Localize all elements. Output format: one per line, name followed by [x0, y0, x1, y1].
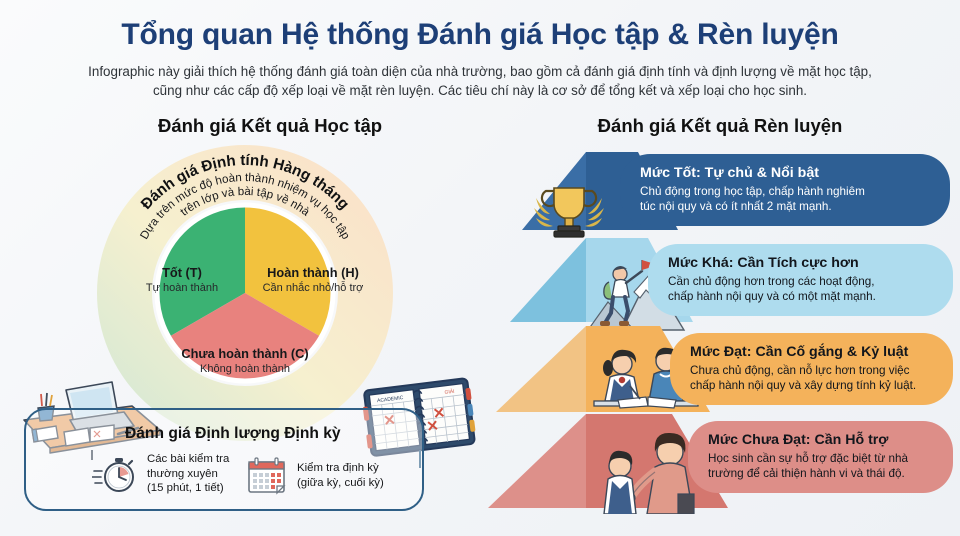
- pyramid-tier-4-body-2: trường để cải thiện hành vi và thái độ.: [708, 466, 937, 481]
- svg-text:GIẢI: GIẢI: [444, 388, 455, 396]
- pyramid-tier-4-heading: Mức Chưa Đạt: Cần Hỗ trợ: [708, 431, 937, 449]
- trophy-icon: [530, 180, 608, 242]
- quantitative-card-title: Đánh giá Định lượng Định kỳ: [125, 425, 355, 443]
- pyramid-tier-1-body-1: Chủ động trong học tập, chấp hành nghiêm: [640, 184, 934, 199]
- pyramid-pill-dat[interactable]: Mức Đạt: Cần Cố gắng & Kỷ luật Chưa chủ …: [670, 333, 953, 405]
- pyramid-tier-3-body-1: Chưa chủ động, cần nỗ lực hơn trong việc: [690, 363, 937, 378]
- infographic-canvas: Tổng quan Hệ thống Đánh giá Học tập & Rè…: [0, 0, 960, 536]
- pyramid-tier-4-body-1: Học sinh cần sự hỗ trợ đặc biệt từ nhà: [708, 451, 937, 466]
- pyramid-tier-1-body-2: túc nội quy và có ít nhất 2 mặt mạnh.: [640, 199, 934, 214]
- quantitative-item-periodic-tests: Kiểm tra định kỳ (giữa kỳ, cuối kỳ): [246, 455, 384, 497]
- quantitative-item-1-text: Các bài kiểm tra thường xuyên (15 phút, …: [147, 452, 229, 496]
- pyramid-pill-chuadat[interactable]: Mức Chưa Đạt: Cần Hỗ trợ Học sinh cần sự…: [688, 421, 953, 493]
- pyramid-pill-tot[interactable]: Mức Tốt: Tự chủ & Nổi bật Chủ động trong…: [620, 154, 950, 226]
- pyramid-tier-2-body-2: chấp hành nội quy và có một mặt mạnh.: [668, 289, 937, 304]
- pyramid-tier-1-heading: Mức Tốt: Tự chủ & Nổi bật: [640, 164, 934, 182]
- pyramid-pill-kha[interactable]: Mức Khá: Cần Tích cực hơn Cần chủ động h…: [648, 244, 953, 316]
- section-heading-conduct: Đánh giá Kết quả Rèn luyện: [500, 115, 940, 137]
- pyramid-tier-2-body-1: Cần chủ động hơn trong các hoạt động,: [668, 274, 937, 289]
- pyramid-tier-3-heading: Mức Đạt: Cần Cố gắng & Kỷ luật: [690, 343, 937, 361]
- pyramid-tier-3-body-2: chấp hành nội quy và xây dựng tính kỷ lu…: [690, 378, 937, 393]
- quantitative-item-regular-tests: Các bài kiểm tra thường xuyên (15 phút, …: [92, 451, 229, 497]
- stopwatch-icon: [92, 451, 138, 497]
- calendar-icon: [246, 455, 288, 497]
- quantitative-item-2-text: Kiểm tra định kỳ (giữa kỳ, cuối kỳ): [297, 461, 384, 490]
- page-title: Tổng quan Hệ thống Đánh giá Học tập & Rè…: [0, 18, 960, 52]
- pyramid-tier-2-heading: Mức Khá: Cần Tích cực hơn: [668, 254, 937, 272]
- conduct-pyramid: Mức Tốt: Tự chủ & Nổi bật Chủ động trong…: [488, 140, 960, 520]
- page-subtitle: Infographic này giải thích hệ thống đánh…: [78, 62, 882, 100]
- section-heading-learning: Đánh giá Kết quả Học tập: [60, 115, 480, 137]
